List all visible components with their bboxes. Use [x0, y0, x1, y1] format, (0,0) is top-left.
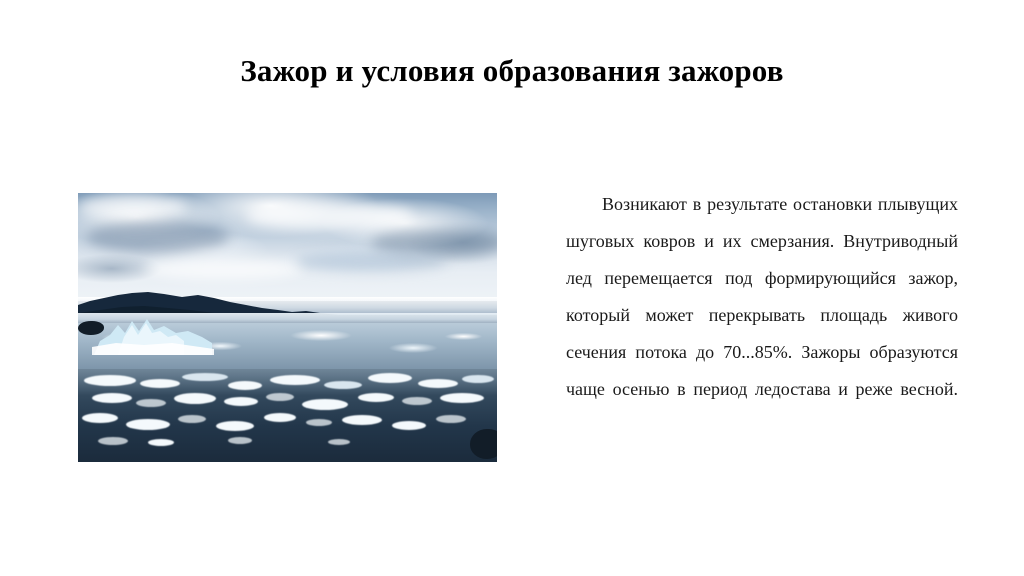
ice-floe	[224, 397, 258, 406]
ice-floe	[182, 373, 228, 381]
ice-floe	[462, 375, 494, 383]
ice-floe	[328, 439, 350, 445]
ice-floe	[302, 399, 348, 410]
ice-floe	[140, 379, 180, 388]
presentation-slide: Зажор и условия образования зажоров	[0, 0, 1024, 576]
cloud-band	[78, 195, 187, 219]
ice-floe	[440, 393, 484, 403]
photo-dark-rock	[470, 429, 497, 459]
cloud-band	[296, 251, 447, 270]
ice-floe	[436, 415, 466, 423]
ice-floe	[392, 421, 426, 430]
slide-title: Зажор и условия образования зажоров	[0, 52, 1024, 89]
cloud-band	[145, 258, 304, 280]
body-text-column: Возникают в результате остановки плывущи…	[566, 186, 958, 445]
ice-floe	[228, 437, 252, 444]
ice-floe	[136, 399, 166, 407]
cloud-band	[86, 221, 228, 253]
photo-sky	[78, 193, 497, 301]
ice-floe	[82, 413, 118, 423]
ice-floe	[216, 421, 254, 431]
ice-floe	[174, 393, 216, 404]
photo-dark-rock	[78, 321, 104, 335]
ice-floe	[358, 393, 394, 402]
ice-floe	[84, 375, 136, 386]
ice-floe	[178, 415, 206, 423]
ice-floe	[228, 381, 262, 390]
ice-floe	[270, 375, 320, 385]
ice-floe	[266, 393, 294, 401]
lagoon-photo	[78, 193, 497, 462]
ice-floe	[368, 373, 412, 383]
ice-floe	[324, 381, 362, 389]
ice-floe	[92, 393, 132, 403]
ice-floe	[264, 413, 296, 422]
ice-floe	[418, 379, 458, 388]
ice-floe	[306, 419, 332, 426]
cloud-band	[246, 202, 414, 230]
ice-floe	[342, 415, 382, 425]
ice-floe	[98, 437, 128, 445]
ice-floe	[126, 419, 170, 430]
ice-floe	[148, 439, 174, 446]
photo-iceberg	[92, 311, 214, 355]
ice-floe	[402, 397, 432, 405]
body-paragraph: Возникают в результате остановки плывущи…	[566, 186, 958, 445]
